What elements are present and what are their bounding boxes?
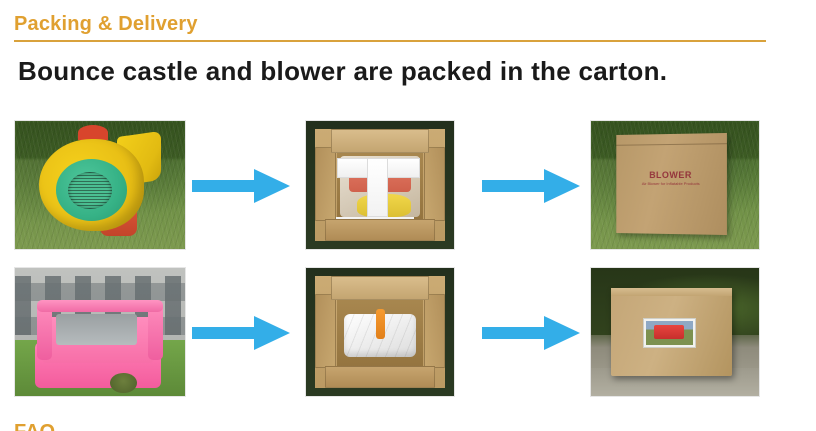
carton-flap-right [424,294,445,368]
carton-print-subtitle: Air Blower for Inflatable Products [641,181,699,186]
carton-seam [616,143,726,146]
carton-flap-left [315,294,336,368]
carton-print-main: BLOWER [649,170,692,180]
carton-flap-left [315,147,336,221]
open-carton-with-blower-photo [305,120,455,250]
blower-top-cap [78,125,109,140]
next-section-peek: FAQ [14,420,766,431]
blower-product-photo [14,120,186,250]
carton-flap-right [424,147,445,221]
carton-top-edge [611,288,732,296]
sealed-blower-carton-photo: BLOWER Air Blower for Inflatable Product… [590,120,760,250]
carton-flap-top [331,129,430,154]
carton-brand-print: BLOWER Air Blower for Inflatable Product… [641,170,699,186]
carton-flap-top [331,276,430,301]
open-carton [315,276,445,389]
castle-entrance [56,314,138,345]
foam-pad-vertical [367,158,388,217]
next-section-title: FAQ [14,420,766,431]
title-divider [14,40,766,42]
open-carton-with-castle-photo [305,267,455,397]
section-header: Packing & Delivery [14,12,766,42]
blue-right-arrow [192,166,290,206]
blue-right-arrow [482,166,580,206]
label-image [646,321,693,345]
carton-flap-bottom [325,219,434,242]
sealed-carton [611,288,732,375]
carton-flap-bottom [325,366,434,389]
product-photo-label [643,318,696,348]
blower-grille [68,172,112,209]
blue-right-arrow [192,313,290,353]
open-carton [315,129,445,242]
page-title: Packing & Delivery [14,12,766,40]
castle-top-beam [37,300,163,312]
blue-right-arrow [482,313,580,353]
bounce-castle-packing-flow-row [0,265,816,397]
orange-carry-strap [376,309,385,338]
sealed-carton: BLOWER Air Blower for Inflatable Product… [616,133,726,235]
pink-bounce-castle-photo [14,267,186,397]
sealed-castle-carton-photo [590,267,760,397]
packing-description-heading: Bounce castle and blower are packed in t… [18,56,667,87]
label-castle-graphic [654,325,684,340]
blower-packing-flow-row: BLOWER Air Blower for Inflatable Product… [0,118,816,250]
